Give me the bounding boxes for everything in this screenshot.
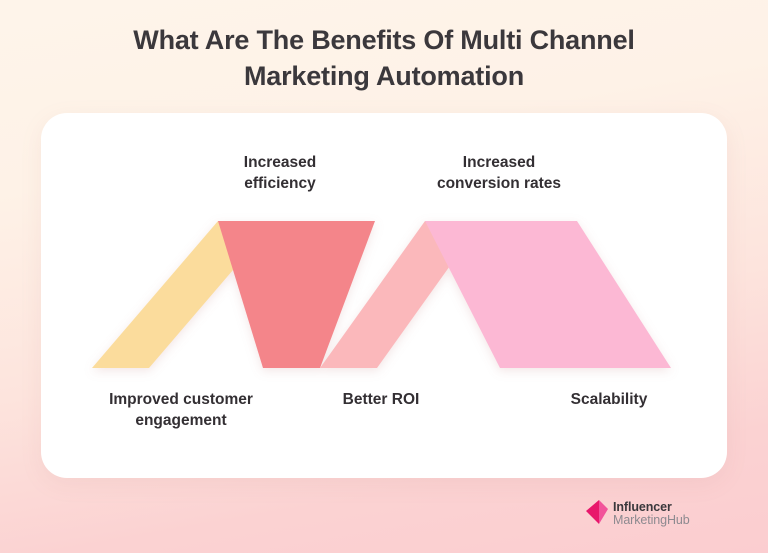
label-improved-customer-engagement: Improved customer engagement <box>72 389 290 431</box>
label-increased-conversion-rates: Increased conversion rates <box>413 152 585 194</box>
page-title-line-1: What Are The Benefits Of Multi Channel <box>60 22 708 58</box>
page-title-line-2: Marketing Automation <box>60 58 708 94</box>
logo-line-2: MarketingHub <box>613 514 690 527</box>
label-scalability: Scalability <box>520 389 698 410</box>
logo-line-1: Influencer <box>613 501 690 514</box>
infographic-canvas: What Are The Benefits Of Multi Channel M… <box>0 0 768 553</box>
chart-segment-4 <box>425 221 671 368</box>
logo-wordmark: Influencer MarketingHub <box>613 500 690 526</box>
influencer-marketing-hub-logo[interactable]: Influencer MarketingHub <box>586 500 690 526</box>
label-better-roi: Better ROI <box>296 389 466 410</box>
arrow-left-icon <box>586 500 608 526</box>
page-title: What Are The Benefits Of Multi Channel M… <box>0 22 768 94</box>
label-increased-efficiency: Increased efficiency <box>196 152 364 194</box>
